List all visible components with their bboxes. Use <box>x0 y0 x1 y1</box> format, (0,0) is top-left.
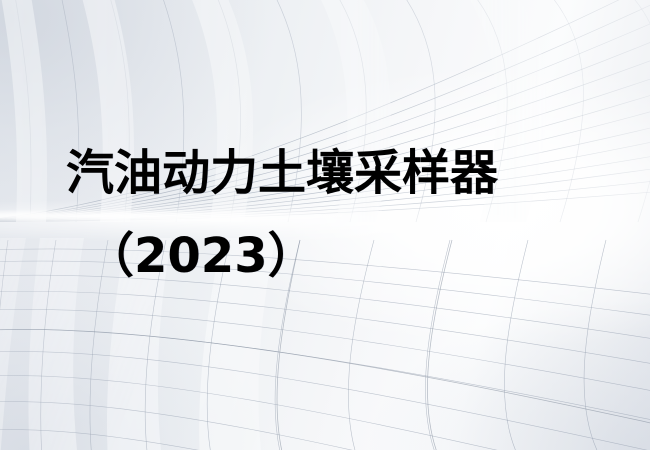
title-slide: 汽油动力土壤采样器 （2023） <box>0 0 650 450</box>
slide-title-block: 汽油动力土壤采样器 （2023） <box>0 0 650 450</box>
slide-title-line-2: （2023） <box>86 228 316 285</box>
slide-title-line-1: 汽油动力土壤采样器 <box>66 145 498 202</box>
